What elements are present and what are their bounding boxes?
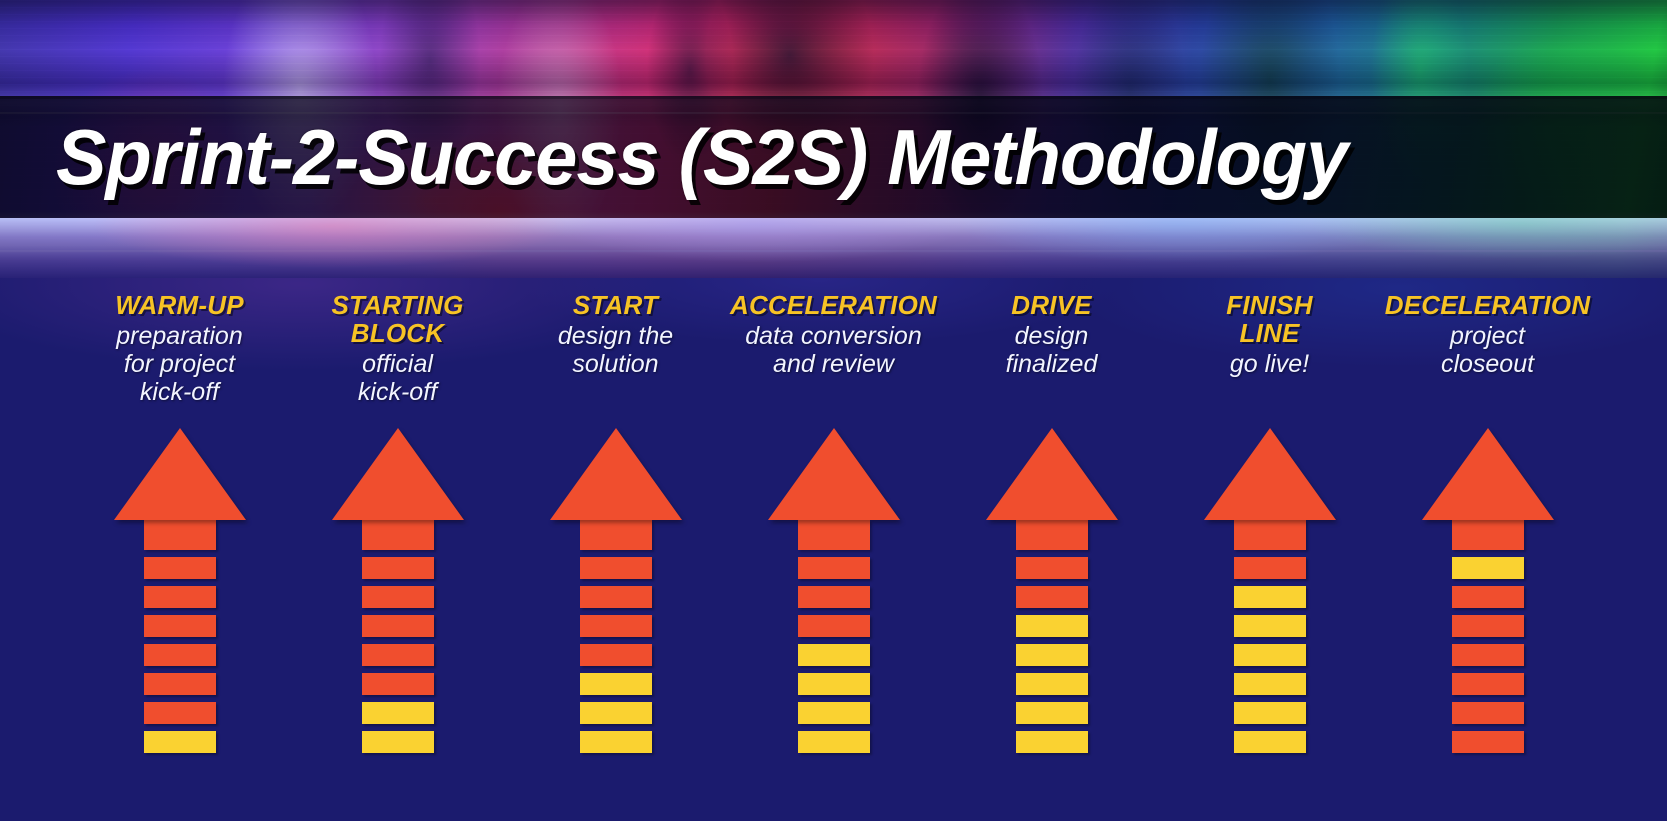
arrow-segment-2-yellow (1234, 586, 1306, 608)
stage-arrow[interactable] (1422, 428, 1554, 753)
arrow-neck (580, 520, 652, 550)
arrow-segment-3-red (362, 615, 434, 637)
stage-title: WARM-UP (115, 292, 244, 320)
arrow-segment-5-red (362, 673, 434, 695)
arrow-segment-7-yellow (362, 731, 434, 753)
arrow-segment-4-red (362, 644, 434, 666)
stage-column-1[interactable]: WARM-UPpreparation for project kick-off (71, 278, 289, 753)
stage-description: data conversion and review (730, 322, 937, 378)
stage-description: preparation for project kick-off (115, 322, 244, 406)
title-band: Sprint-2-Success (S2S) Methodology (0, 96, 1667, 218)
arrow-segment-4-red (144, 644, 216, 666)
stage-header: ACCELERATIONdata conversion and review (730, 278, 937, 428)
stage-column-3[interactable]: STARTdesign the solution (507, 278, 725, 753)
stage-description: design the solution (558, 322, 673, 378)
arrow-segment-2-red (798, 586, 870, 608)
arrow-segment-3-red (144, 615, 216, 637)
stage-column-4[interactable]: ACCELERATIONdata conversion and review (725, 278, 943, 753)
arrow-segment-5-red (1452, 673, 1524, 695)
arrow-head-icon (768, 428, 900, 520)
stage-columns: WARM-UPpreparation for project kick-offS… (0, 278, 1667, 821)
stage-arrow[interactable] (768, 428, 900, 753)
arrow-segment-6-yellow (1016, 702, 1088, 724)
stage-arrow[interactable] (114, 428, 246, 753)
stage-title: STARTING BLOCK (331, 292, 463, 348)
arrow-segment-6-yellow (1234, 702, 1306, 724)
arrow-segment-3-red (1452, 615, 1524, 637)
infographic-canvas: Sprint-2-Success (S2S) Methodology WARM-… (0, 0, 1667, 821)
arrow-segment-6-red (144, 702, 216, 724)
stage-arrow[interactable] (986, 428, 1118, 753)
stage-arrow[interactable] (332, 428, 464, 753)
stages-section: WARM-UPpreparation for project kick-offS… (0, 278, 1667, 821)
arrow-segment-4-yellow (1234, 644, 1306, 666)
arrow-segment-1-red (798, 557, 870, 579)
stage-column-5[interactable]: DRIVEdesign finalized (943, 278, 1161, 753)
stage-description: design finalized (1006, 322, 1098, 378)
stage-header: DECELERATIONproject closeout (1385, 278, 1591, 428)
stage-description: project closeout (1385, 322, 1591, 378)
stage-title: FINISH LINE (1226, 292, 1312, 348)
arrow-neck (1452, 520, 1524, 550)
arrow-head-icon (1204, 428, 1336, 520)
stage-arrow[interactable] (550, 428, 682, 753)
stage-description: go live! (1226, 350, 1312, 378)
arrow-segment-1-red (1234, 557, 1306, 579)
arrow-head-icon (550, 428, 682, 520)
arrow-segment-4-yellow (798, 644, 870, 666)
arrow-segment-2-red (1452, 586, 1524, 608)
stage-title: ACCELERATION (730, 292, 937, 320)
arrow-segment-2-red (362, 586, 434, 608)
arrow-neck (1234, 520, 1306, 550)
stage-description: official kick-off (331, 350, 463, 406)
arrow-segment-5-yellow (798, 673, 870, 695)
arrow-segment-2-red (144, 586, 216, 608)
arrow-head-icon (114, 428, 246, 520)
arrow-head-icon (332, 428, 464, 520)
stage-header: STARTdesign the solution (558, 278, 673, 428)
arrow-segment-7-yellow (144, 731, 216, 753)
arrow-segment-1-red (1016, 557, 1088, 579)
arrow-segment-5-yellow (1016, 673, 1088, 695)
page-title: Sprint-2-Success (S2S) Methodology (56, 118, 1347, 196)
arrow-segment-1-red (580, 557, 652, 579)
arrow-segment-7-yellow (1234, 731, 1306, 753)
arrow-head-icon (1422, 428, 1554, 520)
arrow-segment-6-red (1452, 702, 1524, 724)
arrow-segment-6-yellow (580, 702, 652, 724)
arrow-segment-7-yellow (580, 731, 652, 753)
stage-header: STARTING BLOCKofficial kick-off (331, 278, 463, 428)
arrow-neck (1016, 520, 1088, 550)
stage-title: DRIVE (1006, 292, 1098, 320)
arrow-segment-2-red (1016, 586, 1088, 608)
arrow-segment-5-yellow (1234, 673, 1306, 695)
arrow-segment-2-red (580, 586, 652, 608)
arrow-segment-3-red (798, 615, 870, 637)
arrow-neck (144, 520, 216, 550)
arrow-segment-7-yellow (798, 731, 870, 753)
arrow-segment-5-red (144, 673, 216, 695)
stage-title: DECELERATION (1385, 292, 1591, 320)
stage-header: WARM-UPpreparation for project kick-off (115, 278, 244, 428)
stage-arrow[interactable] (1204, 428, 1336, 753)
stage-column-7[interactable]: DECELERATIONproject closeout (1379, 278, 1597, 753)
arrow-segment-1-red (144, 557, 216, 579)
arrow-segment-3-yellow (1234, 615, 1306, 637)
arrow-segment-6-yellow (798, 702, 870, 724)
arrow-segment-4-red (580, 644, 652, 666)
arrow-segment-1-yellow (1452, 557, 1524, 579)
arrow-neck (798, 520, 870, 550)
stage-title: START (558, 292, 673, 320)
arrow-head-icon (986, 428, 1118, 520)
arrow-segment-3-yellow (1016, 615, 1088, 637)
arrow-segment-1-red (362, 557, 434, 579)
arrow-neck (362, 520, 434, 550)
arrow-segment-7-red (1452, 731, 1524, 753)
stage-column-2[interactable]: STARTING BLOCKofficial kick-off (289, 278, 507, 753)
arrow-segment-4-red (1452, 644, 1524, 666)
stage-header: FINISH LINEgo live! (1226, 278, 1312, 428)
arrow-segment-4-yellow (1016, 644, 1088, 666)
arrow-segment-6-yellow (362, 702, 434, 724)
arrow-segment-7-yellow (1016, 731, 1088, 753)
stage-column-6[interactable]: FINISH LINEgo live! (1161, 278, 1379, 753)
arrow-segment-5-yellow (580, 673, 652, 695)
arrow-segment-3-red (580, 615, 652, 637)
stage-header: DRIVEdesign finalized (1006, 278, 1098, 428)
